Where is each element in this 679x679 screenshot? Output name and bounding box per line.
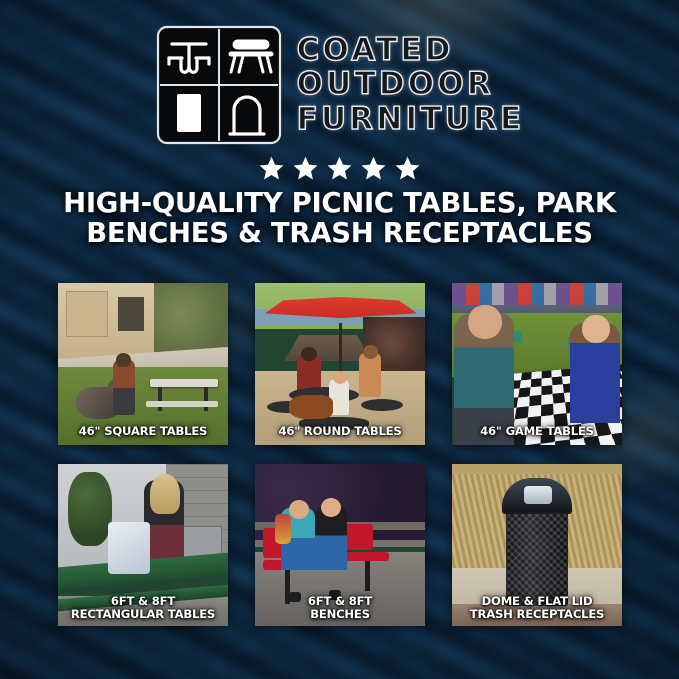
product-caption-line-1: 6FT & 8FT (111, 594, 175, 608)
product-caption-line-2: BENCHES (310, 607, 370, 621)
product-caption-line-2: TRASH RECEPTACLES (470, 607, 604, 621)
star-icon (394, 155, 421, 182)
brand-name: COATED OUTDOOR FURNITURE (297, 34, 525, 135)
product-category-grid: 46" SQUARE TABLES (58, 283, 622, 626)
product-caption: 46" GAME TABLES (452, 425, 622, 438)
product-tile-trash-receptacles[interactable]: DOME & FLAT LID TRASH RECEPTACLES (452, 464, 622, 626)
brand-lockup: COATED OUTDOOR FURNITURE (0, 0, 679, 146)
product-tile-game-tables[interactable]: 46" GAME TABLES (452, 283, 622, 445)
headline-line-1: HIGH-QUALITY PICNIC TABLES, PARK (26, 189, 653, 219)
product-caption-line-1: 6FT & 8FT (308, 594, 372, 608)
brand-name-line-1: COATED (297, 34, 525, 67)
product-photo-game-tables (452, 283, 622, 445)
star-icon (292, 155, 319, 182)
product-caption: 6FT & 8FT RECTANGULAR TABLES (58, 595, 228, 621)
product-caption-line-1: DOME & FLAT LID (482, 594, 593, 608)
product-photo-round-tables (255, 283, 425, 445)
brand-name-line-2: OUTDOOR (297, 68, 525, 101)
star-icon (326, 155, 353, 182)
product-tile-rectangular-tables[interactable]: 6FT & 8FT RECTANGULAR TABLES (58, 464, 228, 626)
star-icon (360, 155, 387, 182)
advertisement-banner: COATED OUTDOOR FURNITURE HIGH-QUALITY PI… (0, 0, 679, 679)
product-caption: 46" SQUARE TABLES (58, 425, 228, 438)
star-rating (0, 155, 679, 182)
product-caption: DOME & FLAT LID TRASH RECEPTACLES (452, 595, 622, 621)
product-caption: 46" ROUND TABLES (255, 425, 425, 438)
product-caption: 6FT & 8FT BENCHES (255, 595, 425, 621)
product-tile-round-tables[interactable]: 46" ROUND TABLES (255, 283, 425, 445)
product-photo-square-tables (58, 283, 228, 445)
product-tile-square-tables[interactable]: 46" SQUARE TABLES (58, 283, 228, 445)
star-icon (258, 155, 285, 182)
four-quadrant-outdoor-furniture-logo (155, 24, 283, 146)
product-caption-line-2: RECTANGULAR TABLES (71, 607, 215, 621)
brand-name-line-3: FURNITURE (297, 103, 525, 136)
product-tile-benches[interactable]: 6FT & 8FT BENCHES (255, 464, 425, 626)
page-title: HIGH-QUALITY PICNIC TABLES, PARK BENCHES… (0, 189, 679, 248)
headline-line-2: BENCHES & TRASH RECEPTACLES (26, 219, 653, 249)
banner-header: COATED OUTDOOR FURNITURE HIGH-QUALITY PI… (0, 0, 679, 248)
